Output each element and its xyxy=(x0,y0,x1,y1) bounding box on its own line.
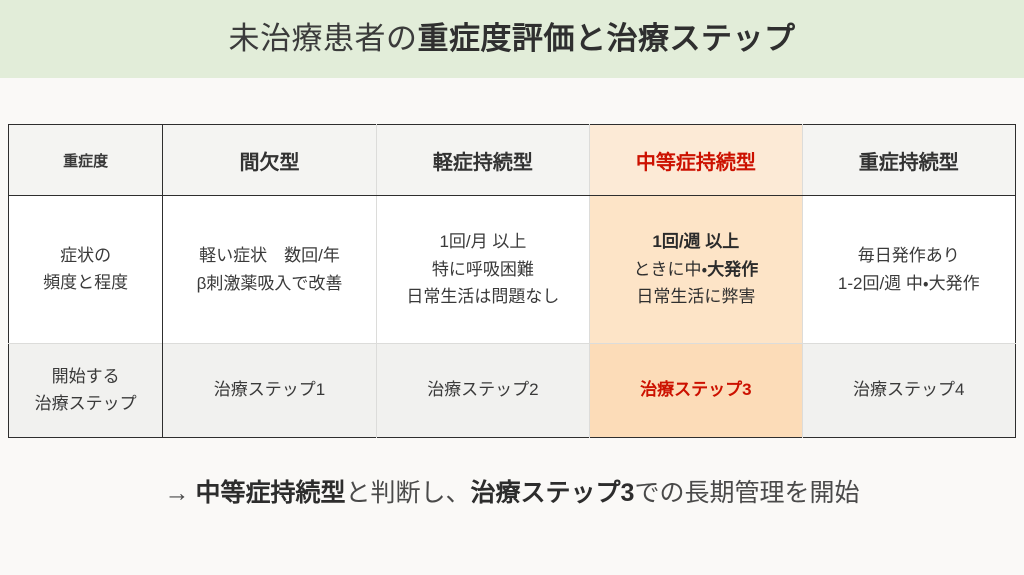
page-title: 未治療患者の重症度評価と治療ステップ xyxy=(229,21,796,57)
row-label-symptoms: 症状の 頻度と程度 xyxy=(9,196,163,344)
cell-line: 1回/週 以上 xyxy=(590,228,801,256)
cell-symptoms-mild: 1回/月 以上 特に呼吸困難 日常生活は問題なし xyxy=(376,196,589,344)
conclusion-severity: 中等症持続型 xyxy=(196,479,346,507)
row-label-treatment-step: 開始する 治療ステップ xyxy=(9,344,163,438)
cell-symptoms-moderate: 1回/週 以上 ときに中・大発作 日常生活に弊害 xyxy=(590,196,802,344)
conclusion-text-1: と判断し、 xyxy=(346,479,471,507)
cell-line-plain: ときに中・ xyxy=(633,260,707,279)
severity-table: 重症度 間欠型 軽症持続型 中等症持続型 重症持続型 症状の 頻度と程度 xyxy=(8,124,1016,438)
cell-line: 日常生活は問題なし xyxy=(377,283,589,311)
cell-step-intermittent: 治療ステップ1 xyxy=(163,344,376,438)
cell-line-mixed: ときに中・大発作 xyxy=(590,256,801,284)
cell-line: 軽い症状 数回/年 xyxy=(163,242,375,270)
cell-symptoms-intermittent: 軽い症状 数回/年 β刺激薬吸入で改善 xyxy=(163,196,376,344)
row-label-step-line2: 治療ステップ xyxy=(9,391,162,417)
cell-step-severe: 治療ステップ4 xyxy=(802,344,1015,438)
table-header-row: 重症度 間欠型 軽症持続型 中等症持続型 重症持続型 xyxy=(9,125,1016,196)
column-header-moderate-persistent: 中等症持続型 xyxy=(590,125,802,196)
severity-table-wrap: 重症度 間欠型 軽症持続型 中等症持続型 重症持続型 症状の 頻度と程度 xyxy=(8,124,1016,438)
cell-step-moderate: 治療ステップ3 xyxy=(590,344,802,438)
conclusion-step: 治療ステップ3 xyxy=(471,479,635,507)
cell-line: 1回/月 以上 xyxy=(377,228,589,256)
column-header-severe-persistent: 重症持続型 xyxy=(802,125,1015,196)
page-title-strong: 重症度評価と治療ステップ xyxy=(418,21,796,56)
table-row: 開始する 治療ステップ 治療ステップ1 治療ステップ2 治療ステップ3 治療ステ… xyxy=(9,344,1016,438)
table-header: 重症度 間欠型 軽症持続型 中等症持続型 重症持続型 xyxy=(9,125,1016,196)
cell-line: 毎日発作あり xyxy=(803,242,1015,270)
cell-line-bold: 大発作 xyxy=(707,260,758,279)
header-band: 未治療患者の重症度評価と治療ステップ xyxy=(0,0,1024,78)
column-header-severity: 重症度 xyxy=(9,125,163,196)
row-label-symptoms-line2: 頻度と程度 xyxy=(9,270,162,296)
cell-line: 特に呼吸困難 xyxy=(377,256,589,284)
row-label-symptoms-line1: 症状の xyxy=(9,243,162,269)
cell-symptoms-severe: 毎日発作あり 1-2回/週 中・大発作 xyxy=(802,196,1015,344)
page-title-light: 未治療患者の xyxy=(229,21,418,56)
column-header-mild-persistent: 軽症持続型 xyxy=(376,125,589,196)
row-label-step-line1: 開始する xyxy=(9,364,162,390)
cell-line: β刺激薬吸入で改善 xyxy=(163,270,375,298)
conclusion-text-2: での長期管理を開始 xyxy=(634,479,859,507)
cell-line: 日常生活に弊害 xyxy=(590,283,801,311)
conclusion-line: →中等症持続型と判断し、治療ステップ3での長期管理を開始 xyxy=(0,478,1024,508)
cell-step-mild: 治療ステップ2 xyxy=(376,344,589,438)
slide-root: 未治療患者の重症度評価と治療ステップ 重症度 間欠型 軽症持続型 中等症持続型 … xyxy=(0,0,1024,575)
arrow-icon: → xyxy=(165,479,190,507)
column-header-intermittent: 間欠型 xyxy=(163,125,376,196)
table-body: 症状の 頻度と程度 軽い症状 数回/年 β刺激薬吸入で改善 1回/月 以上 特に… xyxy=(9,196,1016,438)
table-row: 症状の 頻度と程度 軽い症状 数回/年 β刺激薬吸入で改善 1回/月 以上 特に… xyxy=(9,196,1016,344)
cell-line: 1-2回/週 中・大発作 xyxy=(803,270,1015,298)
